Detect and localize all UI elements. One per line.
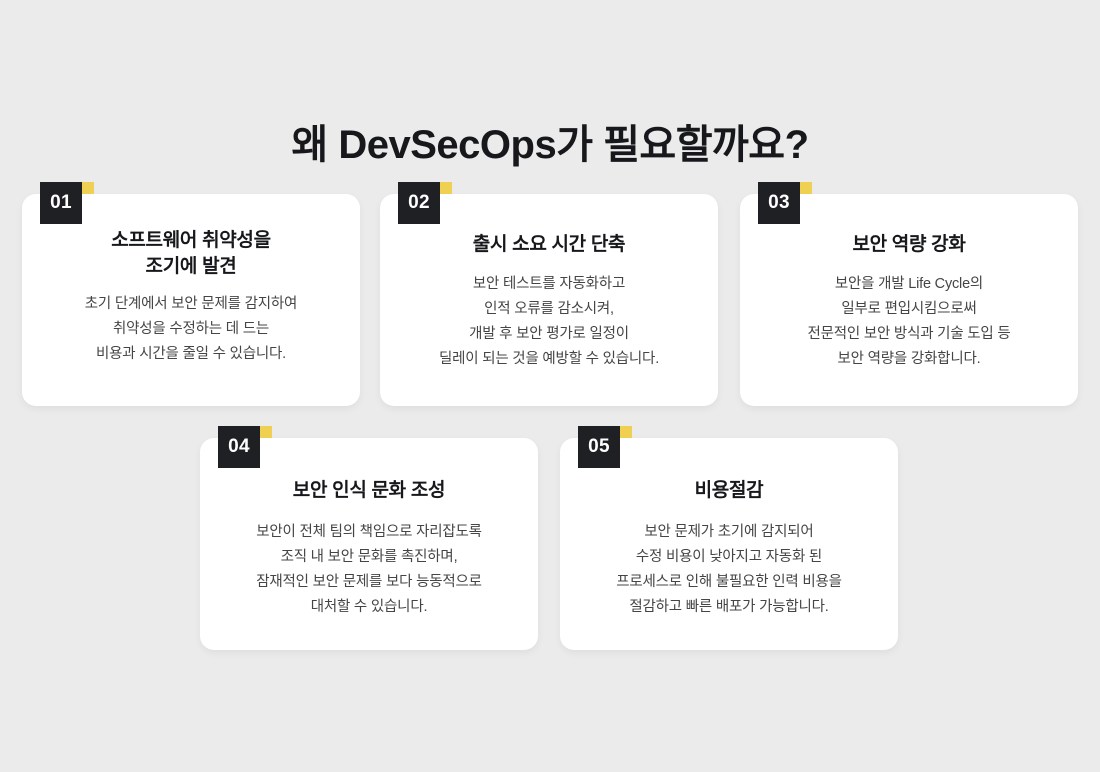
card-description: 보안을 개발 Life Cycle의 일부로 편입시킴으로써 전문적인 보안 방… xyxy=(807,272,1010,372)
badge-accent-square xyxy=(620,426,632,438)
benefit-card: 02 출시 소요 시간 단축 보안 테스트를 자동화하고 인적 오류를 감소시켜… xyxy=(380,194,718,406)
card-title: 보안 역량 강화 xyxy=(852,232,965,258)
card-description: 보안 문제가 초기에 감지되어 수정 비용이 낮아지고 자동화 된 프로세스로 … xyxy=(616,520,842,620)
card-body: 소프트웨어 취약성을 조기에 발견 초기 단계에서 보안 문제를 감지하여 취약… xyxy=(22,194,360,406)
benefit-card: 04 보안 인식 문화 조성 보안이 전체 팀의 책임으로 자리잡도록 조직 내… xyxy=(200,438,538,650)
badge-accent-square xyxy=(260,426,272,438)
card-description: 보안이 전체 팀의 책임으로 자리잡도록 조직 내 보안 문화를 촉진하며, 잠… xyxy=(256,520,482,620)
benefit-card: 03 보안 역량 강화 보안을 개발 Life Cycle의 일부로 편입시킴으… xyxy=(740,194,1078,406)
benefit-card: 01 소프트웨어 취약성을 조기에 발견 초기 단계에서 보안 문제를 감지하여… xyxy=(22,194,360,406)
infographic-page: { "page": { "title": "왜 DevSecOps가 필요할까요… xyxy=(0,0,1100,772)
card-body: 보안 역량 강화 보안을 개발 Life Cycle의 일부로 편입시킴으로써 … xyxy=(740,194,1078,406)
card-body: 보안 인식 문화 조성 보안이 전체 팀의 책임으로 자리잡도록 조직 내 보안… xyxy=(200,438,538,650)
badge-accent-square xyxy=(440,182,452,194)
card-description: 초기 단계에서 보안 문제를 감지하여 취약성을 수정하는 데 드는 비용과 시… xyxy=(85,292,297,367)
card-title: 비용절감 xyxy=(695,478,764,504)
card-title: 출시 소요 시간 단축 xyxy=(473,232,625,258)
card-description: 보안 테스트를 자동화하고 인적 오류를 감소시켜, 개발 후 보안 평가로 일… xyxy=(439,272,659,372)
card-body: 비용절감 보안 문제가 초기에 감지되어 수정 비용이 낮아지고 자동화 된 프… xyxy=(560,438,898,650)
badge-accent-square xyxy=(800,182,812,194)
badge-accent-square xyxy=(82,182,94,194)
card-body: 출시 소요 시간 단축 보안 테스트를 자동화하고 인적 오류를 감소시켜, 개… xyxy=(380,194,718,406)
benefit-cards-container: 01 소프트웨어 취약성을 조기에 발견 초기 단계에서 보안 문제를 감지하여… xyxy=(0,0,1100,772)
card-title: 소프트웨어 취약성을 조기에 발견 xyxy=(111,228,271,280)
benefit-card: 05 비용절감 보안 문제가 초기에 감지되어 수정 비용이 낮아지고 자동화 … xyxy=(560,438,898,650)
card-title: 보안 인식 문화 조성 xyxy=(293,478,445,504)
